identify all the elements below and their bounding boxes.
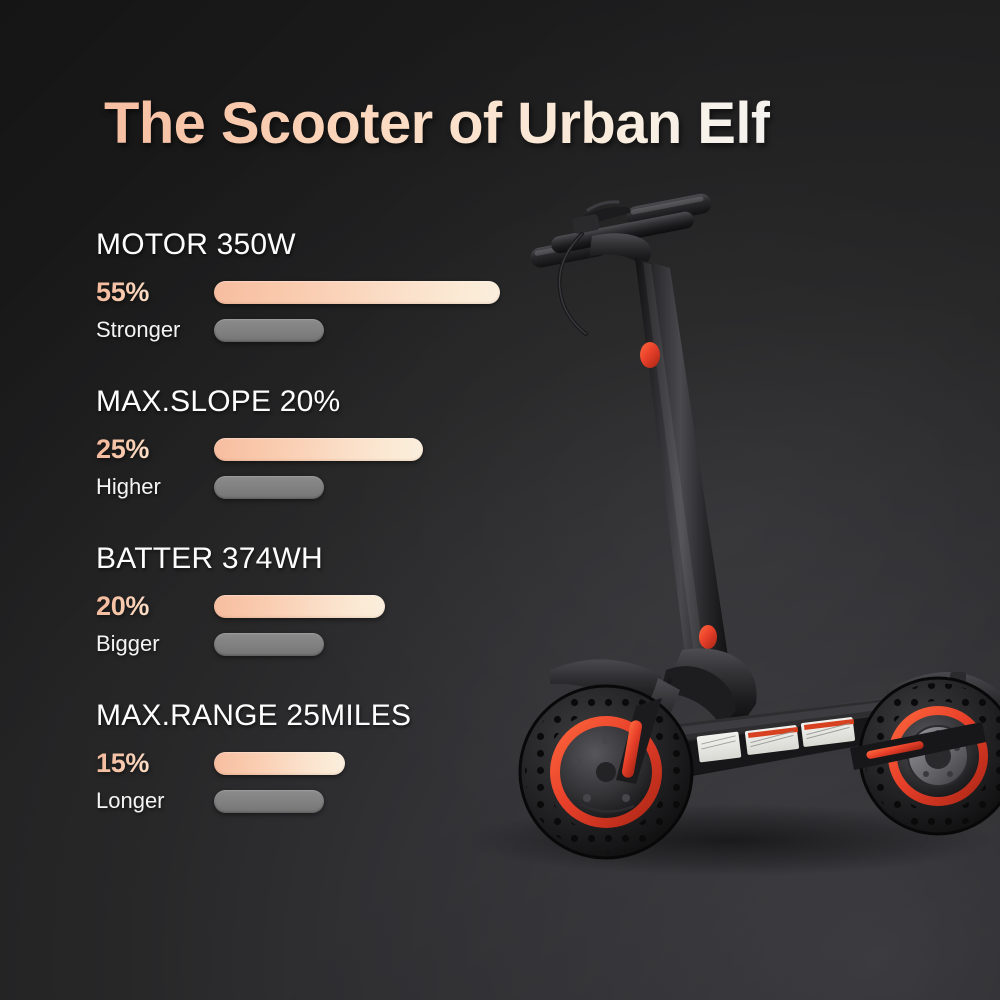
stat-block: MAX.RANGE 25MILES 15% Longer	[96, 699, 526, 816]
stat-heading: MOTOR 350W	[96, 228, 526, 262]
stat-comparison-label: Stronger	[96, 317, 180, 342]
stat-comparison-label: Bigger	[96, 631, 160, 656]
handlebar-right-grip	[625, 192, 713, 228]
page-title: The Scooter of Urban Elf	[104, 90, 770, 157]
stat-percent-key: 15%	[96, 748, 214, 779]
rear-swing-arm	[850, 722, 986, 770]
stat-block: MOTOR 350W 55% Stronger	[96, 228, 526, 345]
stat-secondary-row: Bigger	[96, 629, 526, 659]
stat-percent-key: 55%	[96, 277, 214, 308]
deck-label-warning-2	[801, 717, 856, 747]
scooter-deck	[616, 690, 960, 786]
stat-bar-baseline	[214, 319, 324, 342]
stat-primary-row: 55%	[96, 275, 526, 309]
stat-comparison-label: Longer	[96, 788, 165, 813]
stat-percent-key: 20%	[96, 591, 214, 622]
deck-label-warning-1	[745, 725, 800, 755]
handlebar-left-grip	[529, 235, 609, 270]
stat-primary-row: 25%	[96, 432, 526, 466]
stat-bar-accent	[214, 438, 423, 461]
stat-heading: MAX.RANGE 25MILES	[96, 699, 526, 733]
stat-bar-baseline	[214, 476, 324, 499]
stat-secondary-row: Longer	[96, 786, 526, 816]
stat-heading: MAX.SLOPE 20%	[96, 385, 526, 419]
stat-comparison-label: Higher	[96, 474, 161, 499]
stem-clip-upper	[640, 342, 660, 368]
stat-secondary-row: Higher	[96, 472, 526, 502]
stat-bar-accent	[214, 281, 500, 304]
front-fork	[618, 678, 680, 760]
stat-bar-accent	[214, 752, 345, 775]
stat-primary-row: 15%	[96, 746, 526, 780]
front-wheel	[520, 686, 692, 858]
stat-block: BATTER 374WH 20% Bigger	[96, 542, 526, 659]
kickstand	[868, 734, 900, 810]
stat-comparison-key: Stronger	[96, 317, 214, 343]
deck-label-spec	[697, 732, 742, 763]
front-fender	[550, 659, 662, 710]
stat-primary-row: 20%	[96, 589, 526, 623]
rear-wheel	[860, 678, 1000, 834]
stat-comparison-key: Bigger	[96, 631, 214, 657]
stat-bar-baseline	[214, 790, 324, 813]
stat-block: MAX.SLOPE 20% 25% Higher	[96, 385, 526, 502]
stat-percent-key: 25%	[96, 434, 214, 465]
rear-fender	[886, 672, 1000, 738]
stat-comparison-key: Higher	[96, 474, 214, 500]
stat-bar-accent	[214, 595, 385, 618]
stat-percent-value: 55%	[96, 277, 149, 307]
stat-bar-baseline	[214, 633, 324, 656]
stat-percent-value: 20%	[96, 591, 149, 621]
deck-power-button	[662, 738, 684, 756]
stat-heading: BATTER 374WH	[96, 542, 526, 576]
scooter-stem	[635, 258, 730, 678]
poster-root: The Scooter of Urban Elf MOTOR 350W 55% …	[0, 0, 1000, 1000]
stat-comparison-key: Longer	[96, 788, 214, 814]
stem-clip-lower	[699, 625, 717, 649]
brake-lever	[572, 202, 631, 234]
spec-comparison-chart: MOTOR 350W 55% Stronger MAX.SLOPE 20% 25…	[96, 228, 526, 816]
stat-percent-value: 15%	[96, 748, 149, 778]
stat-percent-value: 25%	[96, 434, 149, 464]
stat-secondary-row: Stronger	[96, 315, 526, 345]
folding-hinge	[660, 648, 757, 758]
